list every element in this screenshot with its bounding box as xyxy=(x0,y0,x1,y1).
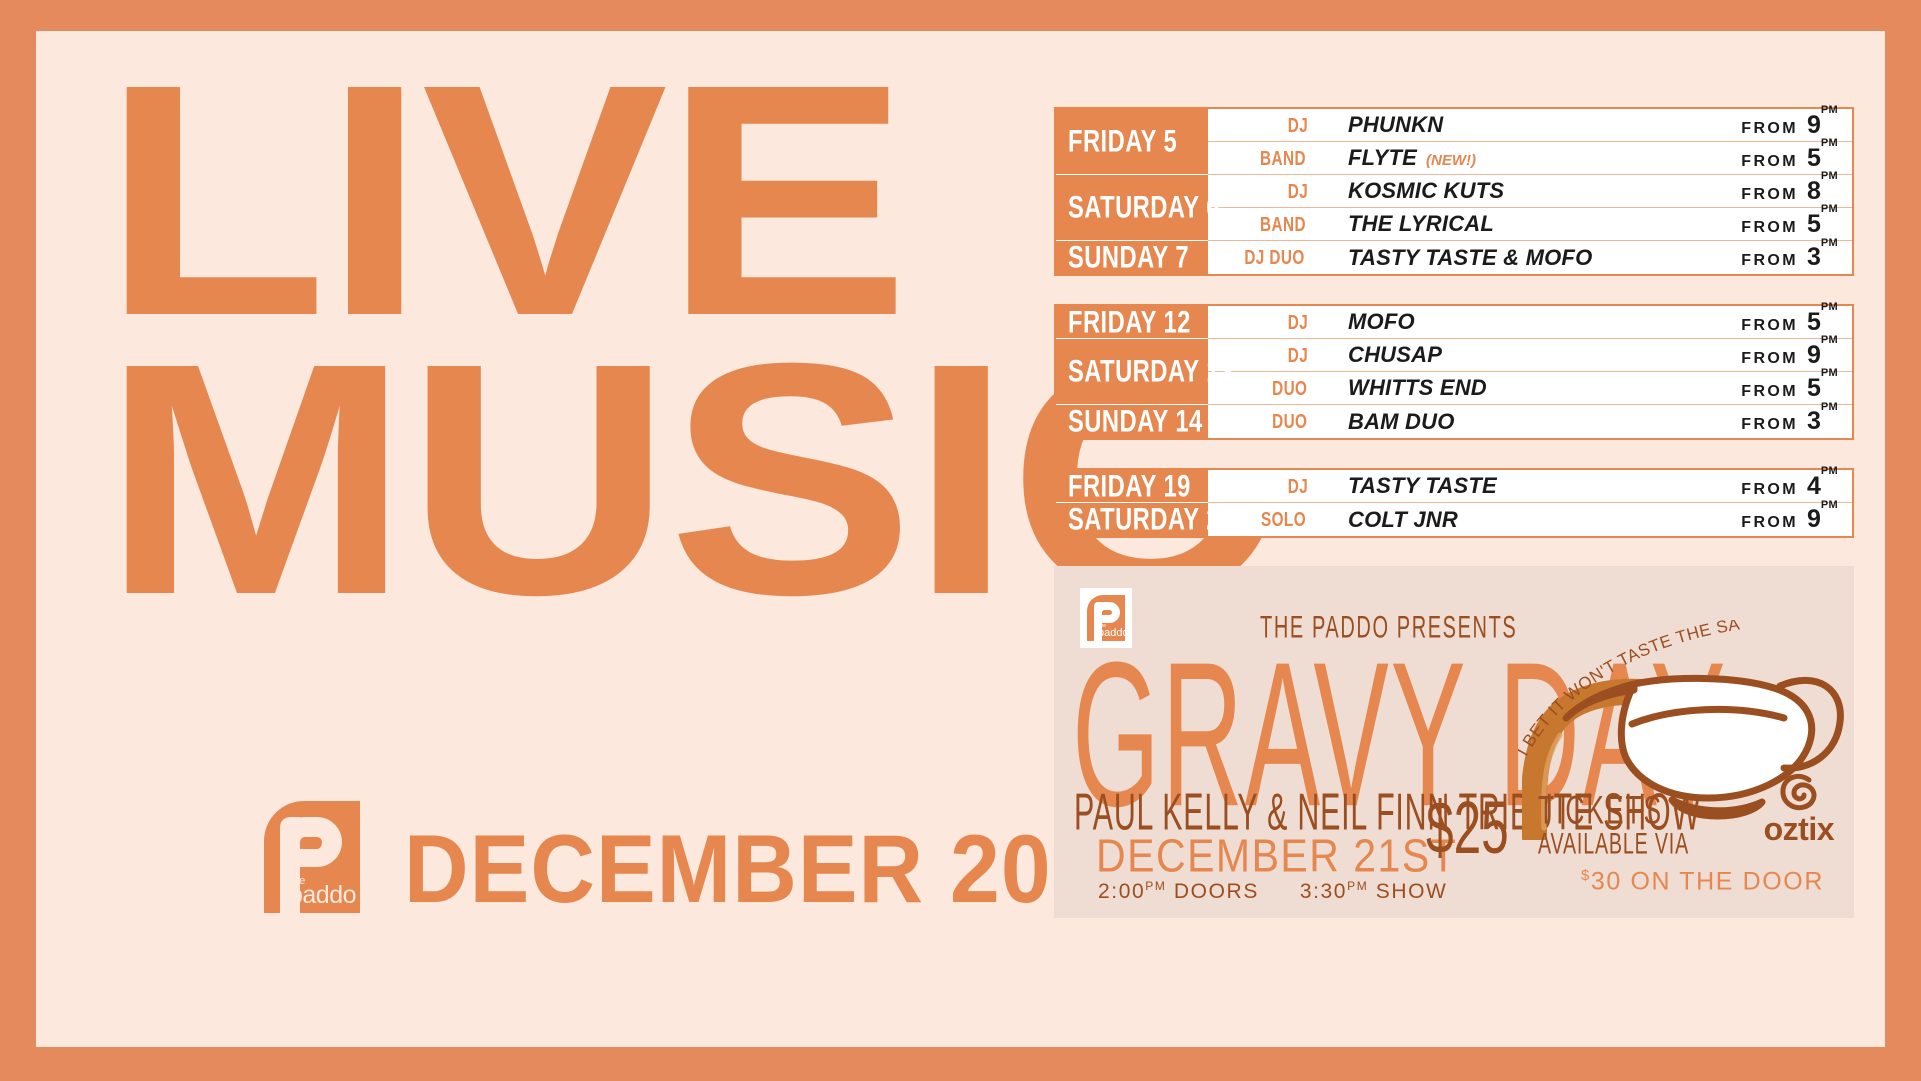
gravy-day-poster[interactable]: the paddo THE PADDO PRESENTS GRAVY DAY P… xyxy=(1054,566,1854,918)
act-type: DJ xyxy=(1208,476,1326,497)
schedule-row: DJPHUNKNFROM9PM xyxy=(1208,109,1852,142)
time-hour: 5PM xyxy=(1807,374,1838,403)
act-name: MOFO xyxy=(1326,309,1684,335)
time-hour: 3PM xyxy=(1807,407,1838,436)
schedule-day-label: SATURDAY 6 xyxy=(1056,175,1208,241)
time-suffix: PM xyxy=(1821,137,1838,149)
act-new-badge: (NEW!) xyxy=(1426,152,1476,169)
time-from-label: FROM xyxy=(1741,186,1798,204)
hero-footer: the paddo DECEMBER 2025 xyxy=(264,801,1124,913)
act-time: FROM5PM xyxy=(1684,210,1852,239)
time-hour: 9PM xyxy=(1807,341,1838,370)
svg-text:I BET IT WON'T TASTE THE SAME: I BET IT WON'T TASTE THE SAME xyxy=(1518,620,1741,759)
act-time: FROM5PM xyxy=(1684,308,1852,337)
time-from-label: FROM xyxy=(1741,252,1798,270)
oztix-wordmark: oztix xyxy=(1764,811,1834,848)
time-from-label: FROM xyxy=(1741,350,1798,368)
act-type: DJ xyxy=(1208,115,1326,136)
time-suffix: PM xyxy=(1821,170,1838,182)
schedule-day-label: SUNDAY 7 xyxy=(1056,241,1208,274)
time-suffix: PM xyxy=(1821,499,1838,511)
act-name: TASTY TASTE & MOFO xyxy=(1326,245,1684,271)
act-time: FROM5PM xyxy=(1684,374,1852,403)
act-time: FROM3PM xyxy=(1684,407,1852,436)
time-from-label: FROM xyxy=(1741,317,1798,335)
time-from-label: FROM xyxy=(1741,383,1798,401)
time-hour: 9PM xyxy=(1807,111,1838,140)
schedule-row: SOLOCOLT JNRFROM9PM xyxy=(1208,503,1852,536)
door-price-text: 30 ON THE DOOR xyxy=(1591,867,1824,895)
act-time: FROM8PM xyxy=(1684,177,1852,206)
act-time: FROM5PM xyxy=(1684,144,1852,173)
act-type: BAND xyxy=(1208,148,1326,169)
time-hour: 9PM xyxy=(1807,505,1838,534)
gravy-times: 2:00PM DOORS 3:30PM SHOW xyxy=(1098,879,1447,904)
act-name: TASTY TASTE xyxy=(1326,473,1684,499)
time-suffix: PM xyxy=(1821,301,1838,313)
time-suffix: PM xyxy=(1821,367,1838,379)
time-suffix: PM xyxy=(1821,465,1838,477)
time-hour: 5PM xyxy=(1807,308,1838,337)
ticket-line-2: AVAILABLE VIA xyxy=(1538,829,1689,860)
time-from-label: FROM xyxy=(1741,219,1798,237)
act-name: BAM DUO xyxy=(1326,409,1684,435)
hero-title-live: LIVE xyxy=(102,71,1058,328)
time-hour: 5PM xyxy=(1807,210,1838,239)
time-hour: 4PM xyxy=(1807,472,1838,501)
act-time: FROM3PM xyxy=(1684,243,1852,272)
act-time: FROM4PM xyxy=(1684,472,1852,501)
doors-time: 2:00 xyxy=(1098,880,1145,903)
time-from-label: FROM xyxy=(1741,120,1798,138)
schedule-block: FRIDAY 19SATURDAY 20DJTASTY TASTEFROM4PM… xyxy=(1054,468,1854,538)
hero-section: LIVE MUSIC the paddo DECEMBER 2025 xyxy=(96,71,956,991)
act-type: DJ xyxy=(1208,312,1326,333)
schedule-day-label: FRIDAY 5 xyxy=(1056,109,1208,175)
act-name: WHITTS END xyxy=(1326,375,1684,401)
act-time: FROM9PM xyxy=(1684,111,1852,140)
schedule-block: FRIDAY 12SATURDAY 13SUNDAY 14DJMOFOFROM5… xyxy=(1054,304,1854,440)
time-suffix: PM xyxy=(1821,334,1838,346)
right-column: FRIDAY 5SATURDAY 6SUNDAY 7DJPHUNKNFROM9P… xyxy=(1054,107,1854,918)
door-price: $30 ON THE DOOR xyxy=(1581,867,1824,896)
schedule-day-label: SUNDAY 14 xyxy=(1056,405,1208,438)
oztix-spiral-icon xyxy=(1778,771,1820,813)
time-suffix: PM xyxy=(1821,203,1838,215)
time-from-label: FROM xyxy=(1741,514,1798,532)
schedule-row: DJCHUSAPFROM9PM xyxy=(1208,339,1852,372)
paddo-logo-name: paddo xyxy=(289,883,356,908)
time-from-label: FROM xyxy=(1741,416,1798,434)
schedule-row: BANDTHE LYRICALFROM5PM xyxy=(1208,208,1852,241)
ticket-price: $25 xyxy=(1426,799,1509,860)
doors-suffix: PM xyxy=(1145,879,1166,893)
paddo-logo-icon: the paddo xyxy=(264,801,360,913)
act-type: DJ DUO xyxy=(1208,247,1326,268)
act-name: KOSMIC KUTS xyxy=(1326,178,1684,204)
schedule-row: DJ DUOTASTY TASTE & MOFOFROM3PM xyxy=(1208,241,1852,274)
poster-inner: LIVE MUSIC the paddo DECEMBER 2025 FRIDA… xyxy=(36,31,1885,1047)
poster-frame: LIVE MUSIC the paddo DECEMBER 2025 FRIDA… xyxy=(0,0,1921,1081)
act-time: FROM9PM xyxy=(1684,341,1852,370)
hero-date: DECEMBER 2025 xyxy=(404,826,1153,913)
schedule-block: FRIDAY 5SATURDAY 6SUNDAY 7DJPHUNKNFROM9P… xyxy=(1054,107,1854,276)
doors-label: DOORS xyxy=(1174,880,1259,903)
schedule-row: DUOWHITTS ENDFROM5PM xyxy=(1208,372,1852,405)
schedule-day-label: FRIDAY 19 xyxy=(1056,470,1208,503)
schedule-row: DJTASTY TASTEFROM4PM xyxy=(1208,470,1852,503)
act-name: COLT JNR xyxy=(1326,507,1684,533)
act-name: THE LYRICAL xyxy=(1326,211,1684,237)
act-type: BAND xyxy=(1208,214,1326,235)
door-price-symbol: $ xyxy=(1581,867,1591,884)
schedule-day-label: SATURDAY 13 xyxy=(1056,339,1208,405)
schedule-row: DJKOSMIC KUTSFROM8PM xyxy=(1208,175,1852,208)
show-label: SHOW xyxy=(1376,880,1448,903)
gravy-arc-text: I BET IT WON'T TASTE THE SAME xyxy=(1518,620,1758,770)
act-name: FLYTE(NEW!) xyxy=(1326,145,1684,171)
gravy-date: DECEMBER 21ST xyxy=(1096,830,1457,883)
act-type: DJ xyxy=(1208,181,1326,202)
oztix-logo[interactable]: oztix xyxy=(1764,771,1834,848)
act-name: PHUNKN xyxy=(1326,112,1684,138)
schedule-day-label: FRIDAY 12 xyxy=(1056,306,1208,339)
time-suffix: PM xyxy=(1821,104,1838,116)
act-time: FROM9PM xyxy=(1684,505,1852,534)
schedule-row: DUOBAM DUOFROM3PM xyxy=(1208,405,1852,438)
time-from-label: FROM xyxy=(1741,153,1798,171)
time-hour: 5PM xyxy=(1807,144,1838,173)
hero-title-music: MUSIC xyxy=(102,350,1058,607)
show-time: 3:30 xyxy=(1300,880,1347,903)
act-type: DUO xyxy=(1208,411,1326,432)
time-suffix: PM xyxy=(1821,237,1838,249)
show-suffix: PM xyxy=(1347,879,1368,893)
time-from-label: FROM xyxy=(1741,481,1798,499)
schedule-day-label: SATURDAY 20 xyxy=(1056,503,1208,536)
schedule-container: FRIDAY 5SATURDAY 6SUNDAY 7DJPHUNKNFROM9P… xyxy=(1054,107,1854,538)
time-suffix: PM xyxy=(1821,401,1838,413)
ticket-line-1: TICKETS xyxy=(1538,790,1689,831)
act-name: CHUSAP xyxy=(1326,342,1684,368)
schedule-row: DJMOFOFROM5PM xyxy=(1208,306,1852,339)
time-hour: 3PM xyxy=(1807,243,1838,272)
time-hour: 8PM xyxy=(1807,177,1838,206)
schedule-row: BANDFLYTE(NEW!)FROM5PM xyxy=(1208,142,1852,175)
ticket-info: $25 TICKETS AVAILABLE VIA xyxy=(1426,798,1722,860)
